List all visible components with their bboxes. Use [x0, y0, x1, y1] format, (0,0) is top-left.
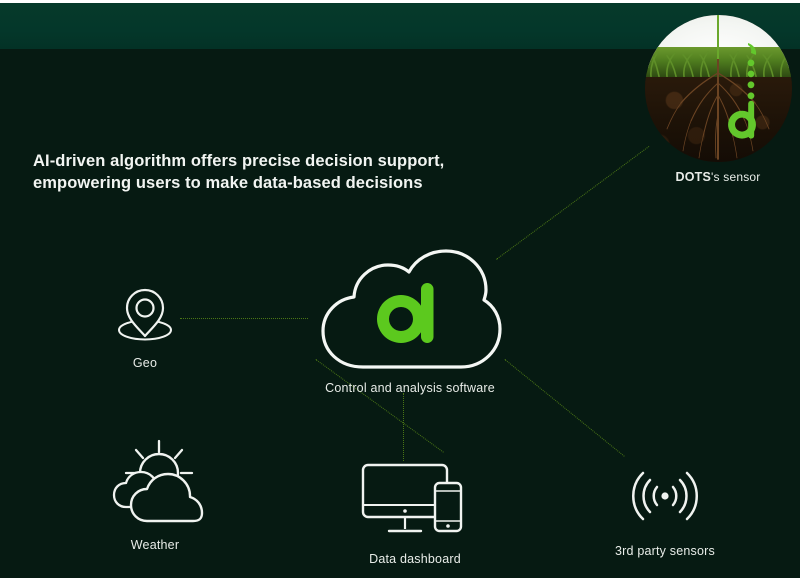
- soil-sensor-photo: [645, 15, 792, 162]
- sensor-label-rest: 's sensor: [711, 170, 760, 184]
- map-pin-icon: [105, 283, 185, 343]
- node-label-geo: Geo: [100, 356, 190, 370]
- connector-cloud-to-sensor: [496, 146, 649, 260]
- node-label-dots-sensor: DOTS's sensor: [633, 170, 800, 184]
- connector-geo-to-cloud: [180, 318, 308, 319]
- node-control-software[interactable]: Control and analysis software: [305, 249, 515, 395]
- sun-cloud-icon: [100, 435, 210, 527]
- node-weather[interactable]: Weather: [95, 435, 215, 552]
- node-label-data-dashboard: Data dashboard: [345, 552, 485, 566]
- photo-root-system: [645, 59, 792, 162]
- slide-canvas: AI-driven algorithm offers precise decis…: [0, 3, 800, 578]
- node-label-weather: Weather: [95, 538, 215, 552]
- headline-line-2: empowering users to make data-based deci…: [33, 172, 503, 194]
- headline-line-1: AI-driven algorithm offers precise decis…: [33, 150, 503, 172]
- node-dots-sensor[interactable]: DOTS's sensor: [633, 15, 800, 184]
- sensor-label-bold: DOTS: [676, 170, 712, 184]
- dots-sensor-logo: [728, 39, 762, 162]
- signal-waves-icon: [622, 465, 708, 527]
- page-title: AI-driven algorithm offers precise decis…: [33, 150, 503, 194]
- node-label-control-software: Control and analysis software: [305, 381, 515, 395]
- node-geo[interactable]: Geo: [100, 283, 190, 370]
- node-data-dashboard[interactable]: Data dashboard: [345, 461, 485, 566]
- connector-cloud-to-third-party: [504, 359, 624, 457]
- connector-cloud-to-dashboard: [403, 393, 404, 461]
- cloud-icon: [315, 249, 505, 375]
- dots-d-logo: [377, 283, 434, 343]
- node-third-party-sensors[interactable]: 3rd party sensors: [595, 465, 735, 558]
- node-label-third-party-sensors: 3rd party sensors: [595, 544, 735, 558]
- monitor-phone-icon: [359, 461, 471, 539]
